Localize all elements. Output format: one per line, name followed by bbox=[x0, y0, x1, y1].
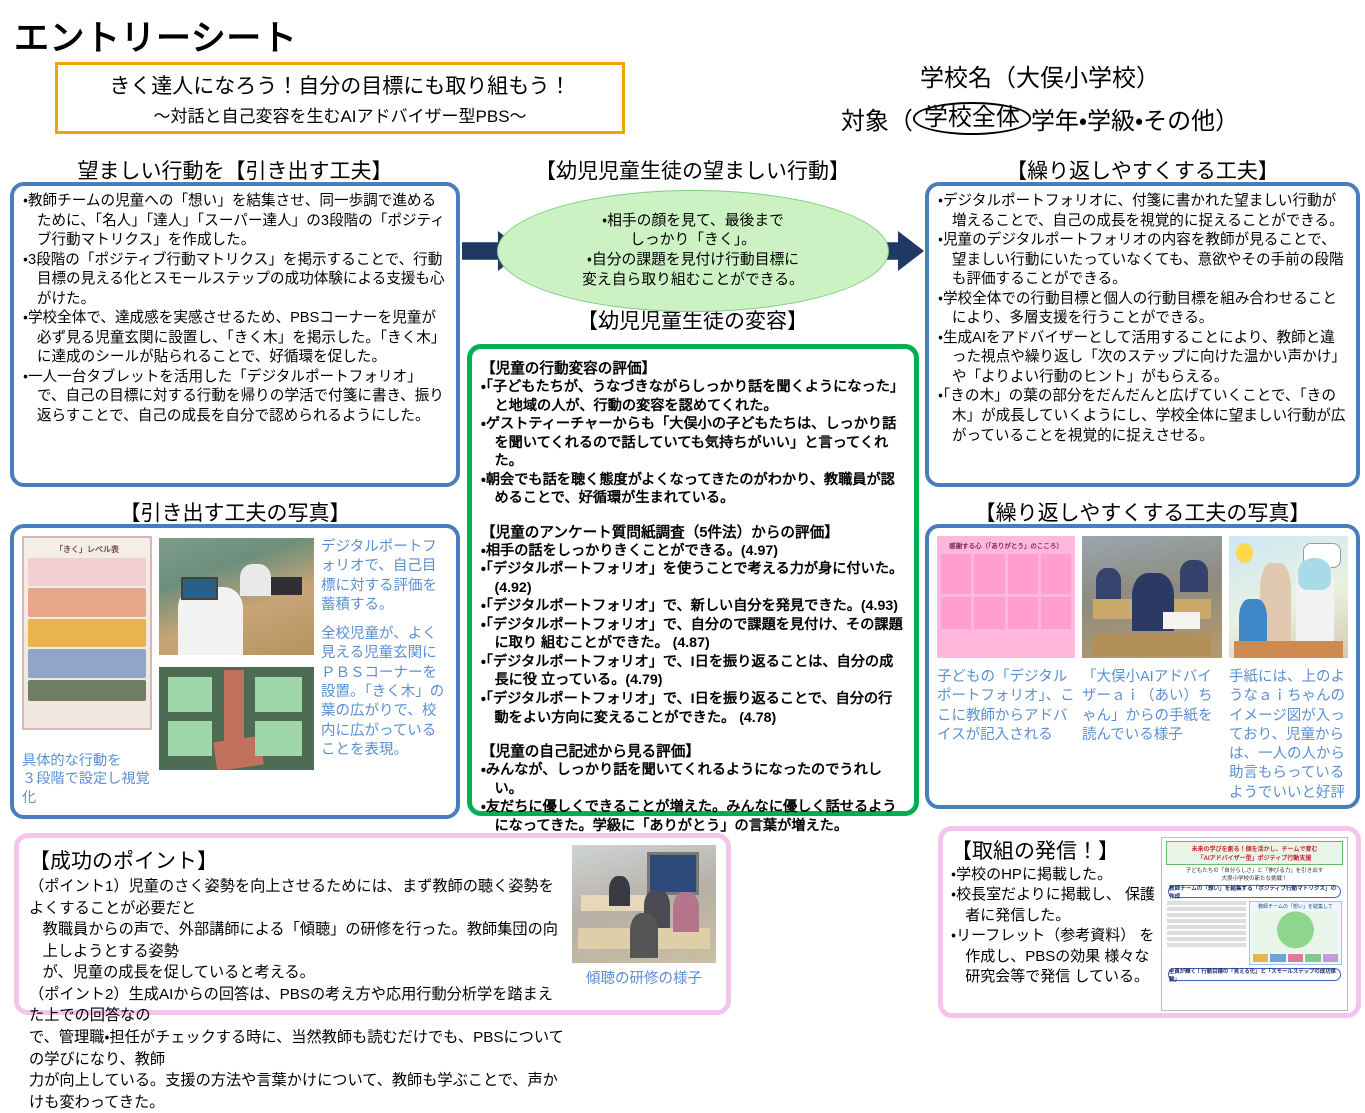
success-points-title: 【成功のポイント】 bbox=[29, 845, 566, 875]
ellipse-line: しっかり「きく」。 bbox=[630, 231, 756, 251]
leaflet-band-1: 教師チームの「想い」を結集する「ポジティブ行動マトリクス」の作成 bbox=[1169, 884, 1340, 900]
center-column-heading: 【幼児児童生徒の望ましい行動】 bbox=[465, 155, 920, 185]
section-title-survey: 【児童のアンケート質問紙調査（5件法）からの評価】 bbox=[481, 521, 906, 542]
training-photo-caption: 傾聴の研修の様子 bbox=[572, 970, 716, 989]
target-suffix: 学年・学級・その他） bbox=[1031, 101, 1239, 136]
leaflet-band-2: 全員が輝く！行動目標の「見える化」と「スモールステップの成功体験」 bbox=[1169, 967, 1340, 983]
subtitle-main-text: きく達人になろう！自分の目標にも取り組もう！ bbox=[109, 70, 570, 100]
target-prefix: 対象（ bbox=[841, 101, 913, 136]
right-photos-panel: 感謝する心（「ありがとう」のこころ） 子どもの「デジタルポートフォリオ」、ここに… bbox=[925, 524, 1360, 809]
list-item: ・デジタルポートフォリオに、付箋に書かれた望ましい行動が増えることで、自己の成長… bbox=[938, 192, 1347, 231]
success-points-panel: 【成功のポイント】 （ポイント1）児童のさく姿勢を向上させるためには、まず教師の… bbox=[14, 833, 731, 1015]
paragraph: が、児童の成長を促していると考える。 bbox=[29, 962, 566, 984]
photo-students-reading-letter bbox=[1082, 536, 1222, 658]
list-item: ・リーフレット（参考資料） を作成し、PBSの効果 様々な研究会等で発信 してい… bbox=[951, 926, 1156, 987]
dissemination-panel: 【取組の発信！】 ・学校のHPに掲載した。 ・校長室だよりに掲載し、 保護者に発… bbox=[938, 826, 1361, 1018]
list-item: ・「子どもたちが、うなづきながらしっかり話を聞くようになった」と地域の人が、行動… bbox=[481, 378, 906, 415]
right-bullet-list: ・デジタルポートフォリオに、付箋に書かれた望ましい行動が増えることで、自己の成長… bbox=[938, 192, 1347, 446]
left-photo-caption-1: デジタルポートフォリオで、自己目標に対する評価を蓄積する。 bbox=[321, 538, 448, 615]
subtitle-sub-text: ～対話と自己変容を生むAIアドバイザー型PBS～ bbox=[153, 102, 526, 127]
right-photo-caption-1: 子どもの「デジタルポートフォリオ」、ここに教師からアドバイスが記入される bbox=[937, 668, 1075, 745]
photo-gratitude-board: 感謝する心（「ありがとう」のこころ） bbox=[937, 536, 1075, 658]
left-strategies-panel: ・教師チームの児童への「想い」を結集させ、同一歩調で進めるために、「名人」「達人… bbox=[10, 182, 460, 487]
school-info-block: 学校名（大俣小学校） 対象（ 学校全体 学年・学級・その他） bbox=[780, 58, 1300, 136]
paragraph: 教職員からの声で、外部講師による「傾聴」の研修を行った。教師集団の向上しようとす… bbox=[29, 919, 566, 962]
list-item: ・生成AIをアドバイザーとして活用することにより、教師と違った視点や繰り返し「次… bbox=[938, 329, 1347, 388]
list-item: ・学校のHPに掲載した。 bbox=[951, 865, 1156, 885]
photo-level-caption: 具体的な行動を ３段階で設定し視覚化 bbox=[22, 752, 152, 807]
leaflet-sub-2: 大俣小学校の新たな挑戦！ bbox=[1162, 874, 1347, 882]
list-item: ・児童のデジタルポートフォリオの内容を教師が見ることで、望ましい行動にいたってい… bbox=[938, 231, 1347, 290]
list-item: ・「デジタルポートフォリオ」を使うことで考える力が身に付いた。(4.92) bbox=[481, 560, 906, 597]
list-item: ・「デジタルポートフォリオ」で、I日を振り返ることで、自分の行動をよい方向に変え… bbox=[481, 690, 906, 727]
behavior-change-list: ・「子どもたちが、うなづきながらしっかり話を聞くようになった」と地域の人が、行動… bbox=[481, 378, 906, 508]
gratitude-board-title: 感謝する心（「ありがとう」のこころ） bbox=[937, 536, 1075, 552]
left-column-heading: 望ましい行動を【引き出す工夫】 bbox=[10, 155, 460, 185]
school-name-text: 学校名（大俣小学校） bbox=[780, 58, 1300, 93]
list-item: ・朝会でも話を聴く態度がよくなってきたのがわかり、教職員が認めることで、好循環が… bbox=[481, 471, 906, 508]
ellipse-line: ・自分の課題を見付け行動目標に bbox=[587, 251, 799, 271]
list-item: ・「デジタルポートフォリオ」で、新しい自分を発見できた。(4.93) bbox=[481, 597, 906, 616]
ellipse-line: 変え自ら取り組むことができる。 bbox=[582, 271, 804, 291]
list-item: ・学校全体での行動目標と個人の行動目標を組み合わせることにより、多層支援を行うこ… bbox=[938, 290, 1347, 329]
photo-kiku-tree-board bbox=[159, 667, 314, 770]
success-points-body: （ポイント1）児童のさく姿勢を向上させるためには、まず教師の聴く姿勢をよくするこ… bbox=[29, 876, 566, 1113]
paragraph: （ポイント1）児童のさく姿勢を向上させるためには、まず教師の聴く姿勢をよくするこ… bbox=[29, 876, 566, 919]
paragraph: （ポイント2）生成AIからの回答は、PBSの考え方や応用行動分析学を踏まえた上で… bbox=[29, 984, 566, 1027]
level-chart-title: 「きく」レベル表 bbox=[26, 544, 148, 555]
leaflet-headline-2: 「AIアドバイザー型」ポジティブ行動支援 bbox=[1170, 853, 1339, 862]
leaflet-sub-1: 子どもたちの「自分らしさ」と「伸びる力」を引き出す bbox=[1162, 866, 1347, 874]
photo-leaflet-preview: 未来の学びを創る！個を活かし、チームで育む 「AIアドバイザー型」ポジティブ行動… bbox=[1161, 837, 1348, 1011]
section-title-self-report: 【児童の自己記述から見る評価】 bbox=[481, 740, 906, 761]
list-item: ・教師チームの児童への「想い」を結集させ、同一歩調で進めるために、「名人」「達人… bbox=[23, 192, 447, 251]
dissemination-title: 【取組の発信！】 bbox=[951, 835, 1156, 865]
ellipse-line: ・相手の顔を見て、最後まで bbox=[602, 212, 784, 232]
right-column-heading: 【繰り返しやすくする工夫】 bbox=[925, 155, 1360, 185]
paragraph: 力が向上している。支援の方法や言葉かけについて、教師も学ぶことで、声かけも変わっ… bbox=[29, 1070, 566, 1113]
target-line: 対象（ 学校全体 学年・学級・その他） bbox=[780, 101, 1300, 136]
section-title-behavior-change: 【児童の行動変容の評価】 bbox=[481, 357, 906, 378]
photo-kiku-level-chart: 「きく」レベル表 bbox=[22, 536, 152, 730]
paragraph: で、管理職・担任がチェックする時に、当然教師も読むだけでも、PBSについての学び… bbox=[29, 1027, 566, 1070]
list-item: ・「きの木」の葉の部分をだんだんと広げていくことで、「きの木」が成長していくよう… bbox=[938, 387, 1347, 446]
list-item: ・ゲストティーチャーからも「大俣小の子どもたちは、しっかり話を聞いてくれるので話… bbox=[481, 415, 906, 471]
page-title: エントリーシート bbox=[14, 10, 297, 61]
leaflet-headline-1: 未来の学びを創る！個を活かし、チームで育む bbox=[1170, 844, 1339, 853]
spacer bbox=[481, 508, 906, 519]
survey-result-list: ・相手の話をしっかりきくことができる。(4.97) ・「デジタルポートフォリオ」… bbox=[481, 542, 906, 727]
right-photo-caption-2: 「大俣小AIアドバイザーａｉ（あい）ちゃん」からの手紙を読んでいる様子 bbox=[1082, 668, 1222, 745]
target-circled-option: 学校全体 bbox=[913, 102, 1031, 134]
dissemination-list: ・学校のHPに掲載した。 ・校長室だよりに掲載し、 保護者に発信した。 ・リーフ… bbox=[951, 865, 1156, 987]
list-item: ・学校全体で、達成感を実感させるため、PBSコーナーを児童が必ず見る児童玄関に設… bbox=[23, 309, 447, 368]
spacer bbox=[481, 727, 906, 738]
student-transformation-panel: 【児童の行動変容の評価】 ・「子どもたちが、うなづきながらしっかり話を聞くように… bbox=[467, 344, 919, 816]
right-strategies-panel: ・デジタルポートフォリオに、付箋に書かれた望ましい行動が増えることで、自己の成長… bbox=[925, 182, 1360, 487]
list-item: ・3段階の「ポジティブ行動マトリクス」を掲示することで、行動目標の見える化とスモ… bbox=[23, 251, 447, 310]
list-item: ・「デジタルポートフォリオ」で、自分ので課題を見付け、その課題に取り 組むことが… bbox=[481, 616, 906, 653]
list-item: ・校長室だよりに掲載し、 保護者に発信した。 bbox=[951, 885, 1156, 926]
self-report-list: ・みんなが、しっかり話を聞いてくれるようになったのでうれしい。 ・友だちに優しく… bbox=[481, 761, 906, 835]
right-photo-heading: 【繰り返しやすくする工夫の写真】 bbox=[925, 497, 1360, 527]
desired-behavior-ellipse: ・相手の顔を見て、最後まで しっかり「きく」。 ・自分の課題を見付け行動目標に … bbox=[497, 190, 889, 312]
left-photo-heading: 【引き出す工夫の写真】 bbox=[10, 497, 460, 527]
photo-listening-training bbox=[572, 845, 716, 963]
leaflet-inner-title: 教師チームの「想い」を結集して bbox=[1250, 902, 1341, 910]
list-item: ・一人一台タブレットを活用した「デジタルポートフォリオ」で、自己の目標に対する行… bbox=[23, 368, 447, 427]
list-item: ・相手の話をしっかりきくことができる。(4.97) bbox=[481, 542, 906, 561]
left-bullet-list: ・教師チームの児童への「想い」を結集させ、同一歩調で進めるために、「名人」「達人… bbox=[23, 192, 447, 427]
photo-ai-chan-illustration bbox=[1229, 536, 1348, 658]
right-photo-caption-3: 手紙には、上のようなａｉちゃんのイメージ図が入っており、児童からは、一人の人から… bbox=[1229, 668, 1348, 803]
list-item: ・みんなが、しっかり話を聞いてくれるようになったのでうれしい。 bbox=[481, 761, 906, 798]
left-photo-caption-2: 全校児童が、よく見える児童玄関にＰＢＳコーナーを設置。「きく木」の葉の広がりで、… bbox=[321, 625, 448, 760]
list-item: ・友だちに優しくできることが増えた。みんなに優しく話せるようになってきた。学級に… bbox=[481, 798, 906, 835]
photo-classroom-tablets bbox=[159, 538, 314, 655]
subtitle-box: きく達人になろう！自分の目標にも取り組もう！ ～対話と自己変容を生むAIアドバイ… bbox=[55, 62, 625, 134]
list-item: ・「デジタルポートフォリオ」で、I日を振り返ることは、自分の成長に役 立っている… bbox=[481, 653, 906, 690]
left-photos-panel: 「きく」レベル表 具体的な行動を ３段階で設定し視覚化 bbox=[10, 524, 460, 819]
